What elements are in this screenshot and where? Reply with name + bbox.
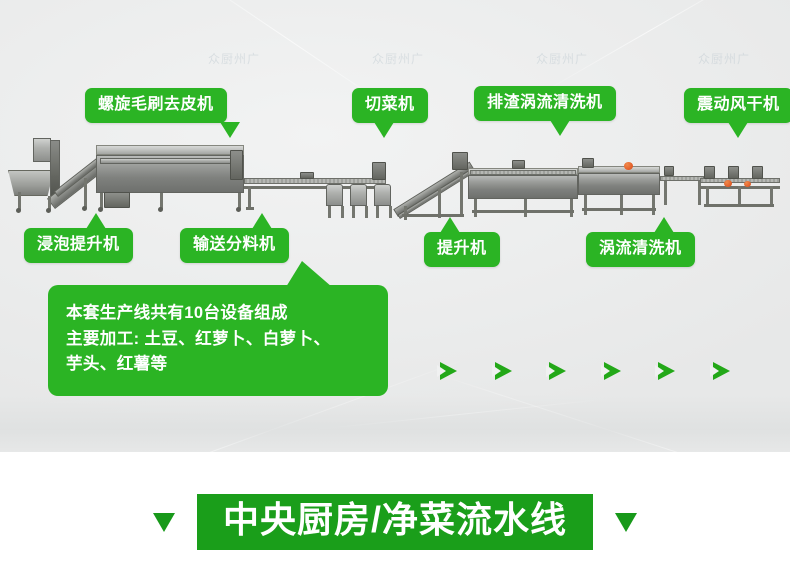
callout-tail-down-icon bbox=[728, 122, 748, 138]
callout-vortex-washer[interactable]: 涡流清洗机 bbox=[586, 232, 695, 267]
callout-waste-vortex-washer[interactable]: 排渣涡流清洗机 bbox=[474, 86, 616, 121]
floor-shadow bbox=[0, 395, 790, 452]
callout-spiral-brush-peeler[interactable]: 螺旋毛刷去皮机 bbox=[85, 88, 227, 123]
callout-vegetable-cutter[interactable]: 切菜机 bbox=[352, 88, 428, 123]
callout-soak-elevator[interactable]: 浸泡提升机 bbox=[24, 228, 133, 263]
arrow-right-icon bbox=[604, 362, 621, 380]
callout-tail-up-icon bbox=[252, 213, 272, 229]
callout-label: 输送分料机 bbox=[193, 236, 276, 253]
callout-elevator[interactable]: 提升机 bbox=[424, 232, 500, 267]
callout-tail-down-icon bbox=[220, 122, 240, 138]
info-line-3: 芋头、红薯等 bbox=[66, 352, 370, 378]
watermark: 众厨州广 bbox=[536, 50, 588, 67]
triangle-down-left-icon bbox=[153, 513, 175, 532]
flow-arrow-row bbox=[440, 358, 730, 384]
arrow-right-icon bbox=[713, 362, 730, 380]
callout-label: 涡流清洗机 bbox=[599, 240, 682, 257]
callout-label: 提升机 bbox=[437, 240, 487, 257]
triangle-down-right-icon bbox=[615, 513, 637, 532]
info-box-tail-up-icon bbox=[286, 261, 332, 287]
info-line-2: 主要加工: 土豆、红萝卜、白萝卜、 bbox=[66, 327, 370, 353]
backdrop-crease bbox=[537, 0, 763, 96]
callout-label: 切菜机 bbox=[365, 96, 415, 113]
callout-tail-up-icon bbox=[654, 217, 674, 233]
arrow-right-icon bbox=[549, 362, 566, 380]
callout-tail-up-icon bbox=[86, 213, 106, 229]
watermark: 众厨州广 bbox=[698, 50, 750, 67]
production-line-info-box[interactable]: 本套生产线共有10台设备组成 主要加工: 土豆、红萝卜、白萝卜、 芋头、红薯等 bbox=[48, 285, 388, 396]
product-banner-image: 众厨州广 众厨州广 众厨州广 众厨州广 bbox=[0, 0, 790, 583]
callout-label: 震动风干机 bbox=[697, 96, 780, 113]
bottom-banner-row: 中央厨房/净菜流水线 bbox=[0, 487, 790, 557]
callout-label: 螺旋毛刷去皮机 bbox=[98, 96, 214, 113]
watermark: 众厨州广 bbox=[208, 50, 260, 67]
callout-label: 浸泡提升机 bbox=[37, 236, 120, 253]
arrow-right-icon bbox=[440, 362, 457, 380]
arrow-right-icon bbox=[658, 362, 675, 380]
callout-tail-down-icon bbox=[550, 120, 570, 136]
callout-tail-down-icon bbox=[374, 122, 394, 138]
production-line-photo: 众厨州广 众厨州广 众厨州广 众厨州广 bbox=[0, 0, 790, 452]
callout-label: 排渣涡流清洗机 bbox=[487, 94, 603, 111]
callout-vibrating-air-dryer[interactable]: 震动风干机 bbox=[684, 88, 790, 123]
watermark: 众厨州广 bbox=[372, 50, 424, 67]
callout-conveyor-distributor[interactable]: 输送分料机 bbox=[180, 228, 289, 263]
banner-title: 中央厨房/净菜流水线 bbox=[197, 494, 593, 551]
info-line-1: 本套生产线共有10台设备组成 bbox=[66, 301, 370, 327]
arrow-right-icon bbox=[495, 362, 512, 380]
callout-tail-up-icon bbox=[440, 217, 460, 233]
